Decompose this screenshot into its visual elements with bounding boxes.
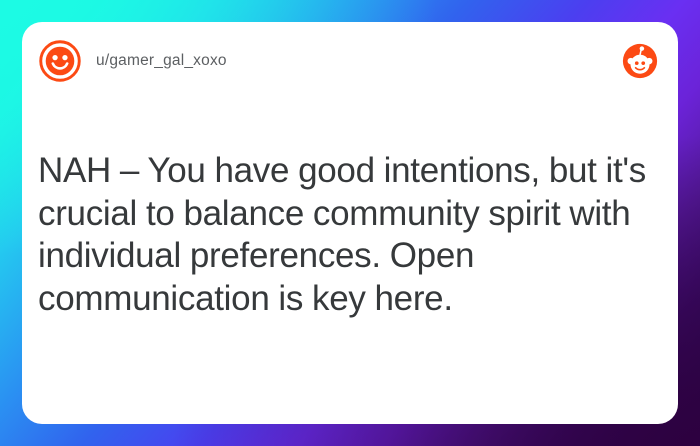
screenshot-stage: u/gamer_gal_xoxo NAH – You have good int… [0, 0, 700, 446]
comment-body: NAH – You have good intentions, but it's… [22, 100, 678, 321]
reddit-comment-card: u/gamer_gal_xoxo NAH – You have good int… [22, 22, 678, 424]
comment-text: NAH – You have good intentions, but it's… [38, 150, 648, 321]
reddit-snoo-icon[interactable] [622, 43, 658, 79]
username-label: u/gamer_gal_xoxo [96, 52, 227, 70]
comment-header: u/gamer_gal_xoxo [22, 22, 678, 100]
smiley-face-icon[interactable] [38, 39, 82, 83]
